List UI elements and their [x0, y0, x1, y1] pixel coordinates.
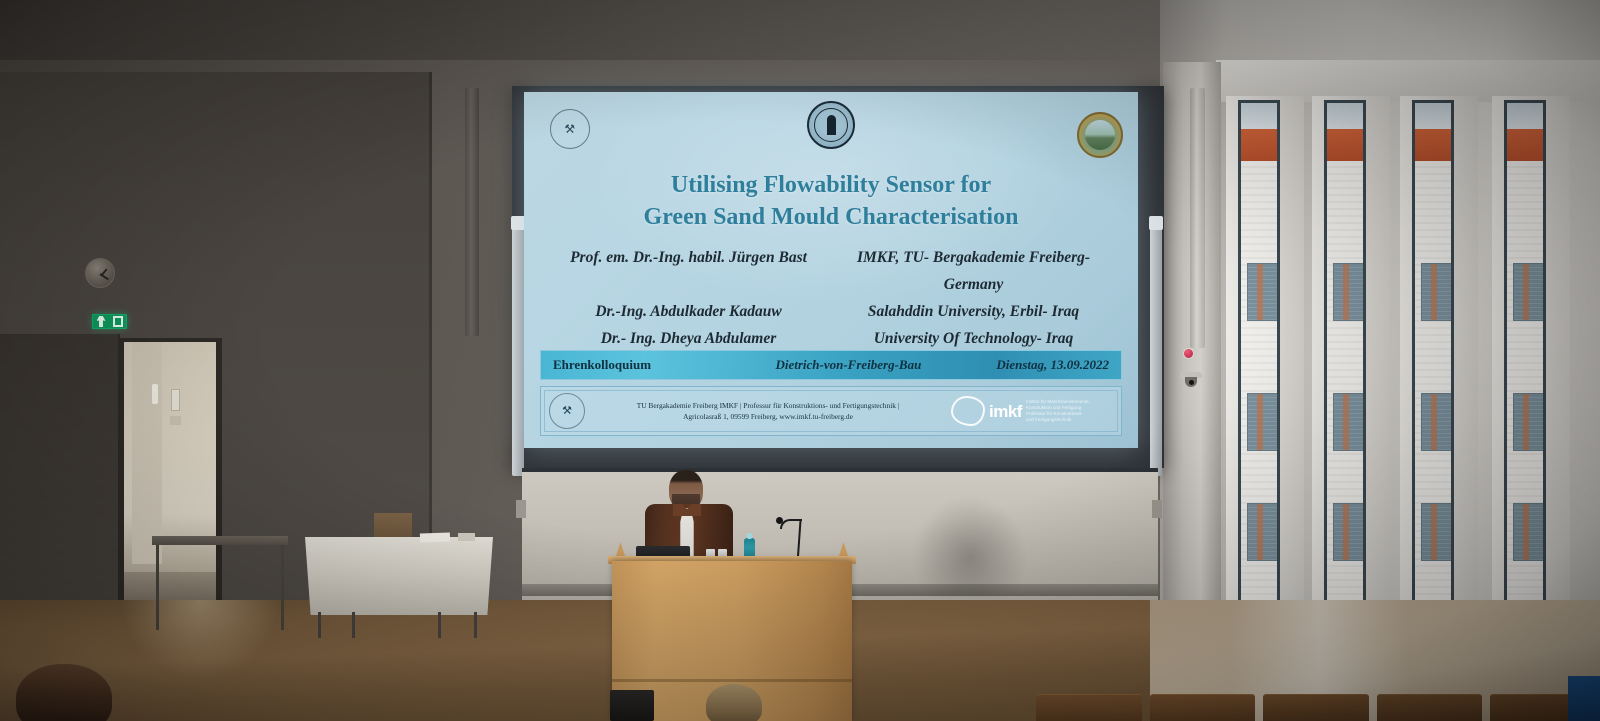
author-affiliation: University Of Technology- Iraq: [831, 325, 1116, 352]
audience-chair[interactable]: [1377, 694, 1483, 721]
foreground-equipment: [610, 690, 654, 721]
audience-head-left: [16, 664, 112, 721]
author-affiliation: IMKF, TU- Bergakademie Freiberg- Germany: [831, 244, 1116, 298]
corridor-switch: [170, 416, 181, 425]
blue-object: [1568, 676, 1600, 721]
audience-chair[interactable]: [1150, 694, 1256, 721]
side-table: [152, 536, 288, 545]
event-type: Ehrenkolloquium: [541, 357, 750, 373]
slide-title: Utilising Flowability Sensor for Green S…: [524, 170, 1138, 233]
corridor-lamp-icon: [152, 384, 158, 404]
slide-title-line-1: Utilising Flowability Sensor for: [671, 172, 991, 198]
author-row: Prof. em. Dr.-Ing. habil. Jürgen Bast IM…: [546, 244, 1116, 298]
side-table-leg: [281, 545, 284, 630]
window-2: [1324, 100, 1366, 608]
audience-chair[interactable]: [1263, 694, 1369, 721]
wall-light-fixture: [465, 88, 479, 336]
item-on-table: [458, 533, 475, 541]
event-date: Dienstag, 13.09.2022: [947, 357, 1121, 373]
footer-address-line-1: TU Bergakademie Freiberg IMKF | Professu…: [591, 400, 945, 411]
speaker-shadow: [915, 498, 1025, 596]
security-camera-icon: [1178, 372, 1204, 388]
author-affiliation: Salahddin University, Erbil- Iraq: [831, 298, 1116, 325]
author-row: Dr.-Ing. Abdulkader Kadauw Salahddin Uni…: [546, 298, 1116, 325]
table-leg: [318, 612, 321, 638]
footer-address: TU Bergakademie Freiberg IMKF | Professu…: [585, 400, 951, 422]
table-leg: [438, 612, 441, 638]
slide-title-line-2: Green Sand Mould Characterisation: [524, 202, 1138, 234]
author-name: Dr.- Ing. Dheya Abdulamer: [546, 325, 831, 352]
crossed-hammers-icon: ⚒: [564, 123, 575, 135]
screen-rail-right: [1150, 226, 1162, 476]
podium-seam: [612, 679, 852, 682]
window-3: [1412, 100, 1454, 608]
table-leg: [474, 612, 477, 638]
projected-slide: ⚒ Utilising Flowability Sensor for Green…: [524, 92, 1138, 448]
crossed-hammers-icon: ⚒: [562, 405, 572, 417]
footer-tu-logo-icon: ⚒: [549, 393, 585, 429]
screen-rail-left: [512, 226, 524, 476]
side-table-leg: [156, 545, 159, 630]
open-doorway[interactable]: [124, 342, 216, 620]
ceiling-duct: [1190, 88, 1205, 348]
whiteboard-bracket: [1152, 500, 1162, 518]
audience-head-center: [706, 684, 762, 721]
imkf-outline-icon: [951, 396, 985, 426]
imkf-sub-1: Institut für Maschinenelemente,: [1026, 399, 1090, 405]
audience-chair[interactable]: [1036, 694, 1142, 721]
emergency-button-icon[interactable]: [1183, 348, 1194, 359]
window-4: [1504, 100, 1546, 608]
tu-freiberg-logo-icon: ⚒: [550, 109, 590, 149]
emergency-exit-icon: [92, 314, 127, 329]
author-list: Prof. em. Dr.-Ing. habil. Jürgen Bast IM…: [546, 244, 1116, 353]
author-name: Prof. em. Dr.-Ing. habil. Jürgen Bast: [546, 244, 831, 298]
imkf-sub-4: und Fertigungstechnik: [1026, 417, 1090, 423]
author-name: Dr.-Ing. Abdulkader Kadauw: [546, 298, 831, 325]
corridor-panel: [171, 389, 180, 411]
footer-address-line-2: Agricolasraß 1, 09599 Freiberg, www.imkf…: [591, 411, 945, 422]
corridor-wall: [132, 342, 162, 564]
papers-on-table: [420, 532, 450, 542]
salahddin-university-logo-icon: [1077, 112, 1123, 158]
left-alcove: [0, 334, 120, 624]
window-1: [1238, 100, 1280, 608]
whiteboard-bracket: [516, 500, 526, 518]
table-leg: [352, 612, 355, 638]
imkf-logo: imkf Institut für Maschinenelemente, Kon…: [951, 396, 1121, 426]
university-of-technology-logo-icon: [807, 101, 855, 149]
door-light-spill: [120, 600, 280, 680]
author-row: Dr.- Ing. Dheya Abdulamer University Of …: [546, 325, 1116, 352]
slide-footer: ⚒ TU Bergakademie Freiberg IMKF | Profes…: [540, 386, 1122, 436]
imkf-wordmark: imkf: [989, 403, 1022, 420]
lecture-hall-photo: ⚒ Utilising Flowability Sensor for Green…: [0, 0, 1600, 721]
wall-clock-icon: [85, 258, 115, 288]
audience-chair-row: [1036, 694, 1596, 721]
registration-table: [305, 537, 493, 615]
event-band: Ehrenkolloquium Dietrich-von-Freiberg-Ba…: [540, 350, 1122, 380]
event-venue: Dietrich-von-Freiberg-Bau: [750, 357, 947, 373]
